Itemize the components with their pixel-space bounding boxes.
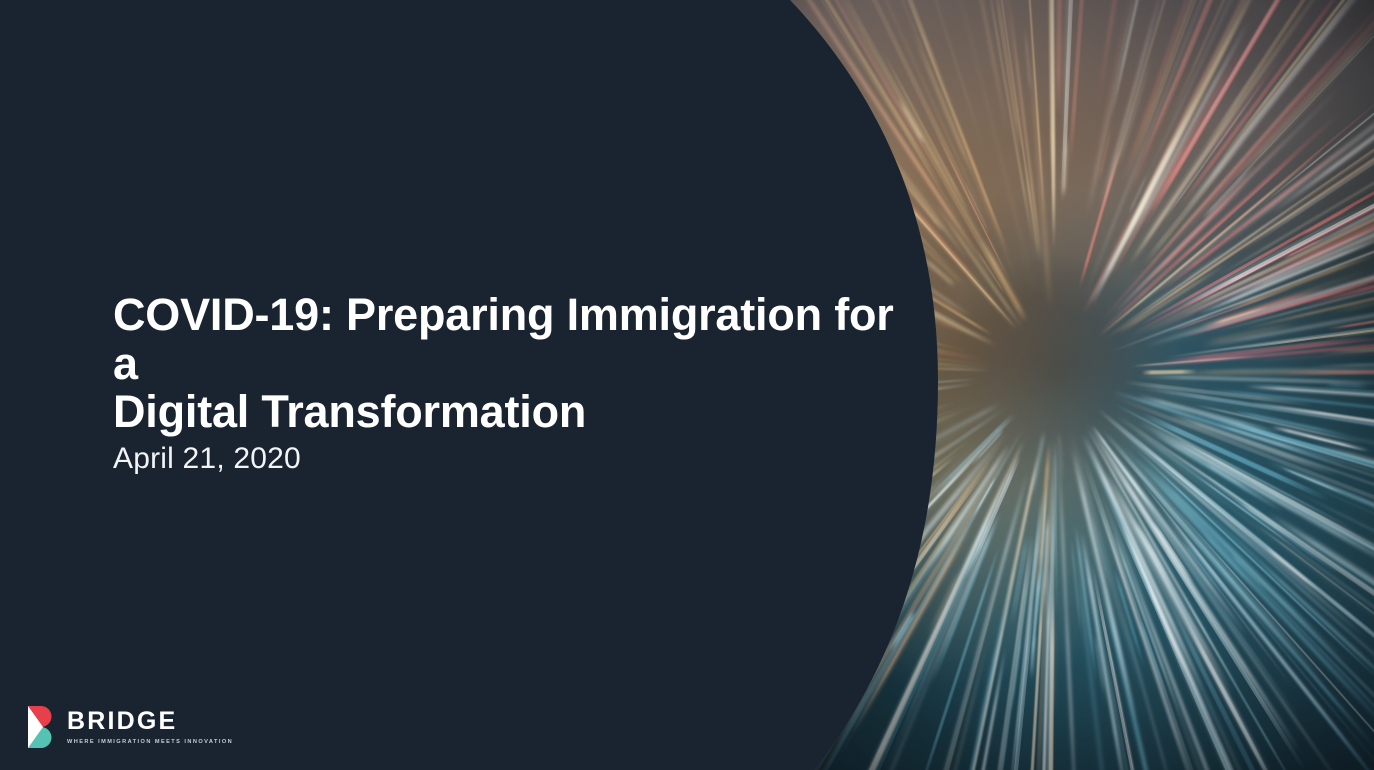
logo-text-block: BRIDGE WHERE IMMIGRATION MEETS INNOVATIO… bbox=[67, 709, 233, 745]
logo-tagline: WHERE IMMIGRATION MEETS INNOVATION bbox=[67, 739, 233, 745]
title-slide: COVID-19: Preparing Immigration for a Di… bbox=[0, 0, 1374, 770]
page-title: COVID-19: Preparing Immigration for a Di… bbox=[113, 291, 923, 437]
logo-wordmark: BRIDGE bbox=[67, 709, 233, 734]
brand-logo: BRIDGE WHERE IMMIGRATION MEETS INNOVATIO… bbox=[28, 706, 233, 748]
slide-date: April 21, 2020 bbox=[113, 442, 301, 476]
bridge-b-icon bbox=[28, 706, 55, 748]
